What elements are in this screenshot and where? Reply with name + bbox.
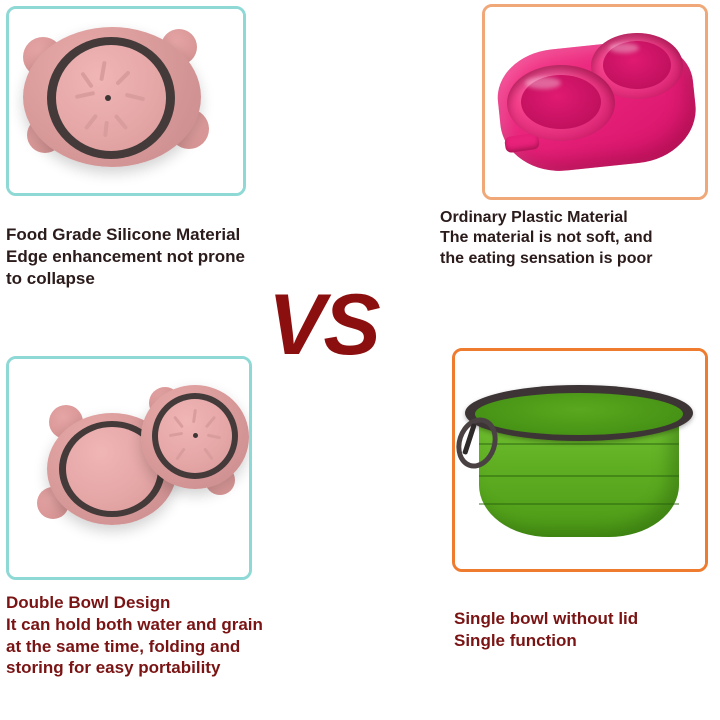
silicone-bowl-topview-illustration: [9, 9, 243, 193]
green-bowl-interior: [475, 393, 683, 435]
lid-center-dot: [105, 95, 111, 101]
plastic-highlight: [609, 43, 639, 53]
ordinary-plastic-double-bowl-photo: [482, 4, 708, 200]
food-grade-silicone-bowl-photo: [6, 6, 246, 196]
green-bowl-fold-line: [479, 475, 679, 477]
green-bowl-fold-line: [479, 443, 679, 445]
green-bowl-fold-line: [479, 503, 679, 505]
caption-double-bowl-design: Double Bowl Design It can hold both wate…: [6, 592, 263, 679]
double-silicone-bowl-photo: [6, 356, 252, 580]
plastic-highlight: [525, 77, 561, 89]
green-bowl-illustration: [455, 351, 705, 569]
lid-center-dot: [193, 433, 198, 438]
plastic-double-bowl-illustration: [485, 7, 705, 197]
green-single-collapsible-bowl-photo: [452, 348, 708, 572]
comparison-infographic: Food Grade Silicone Material Edge enhanc…: [0, 0, 720, 720]
caption-ordinary-plastic: Ordinary Plastic Material The material i…: [440, 208, 652, 269]
double-silicone-bowl-illustration: [9, 359, 249, 577]
silicone-bowl-lid: [56, 45, 166, 151]
caption-single-bowl: Single bowl without lid Single function: [454, 608, 638, 652]
caption-food-grade-silicone: Food Grade Silicone Material Edge enhanc…: [6, 224, 245, 289]
vs-label: VS: [268, 276, 379, 375]
